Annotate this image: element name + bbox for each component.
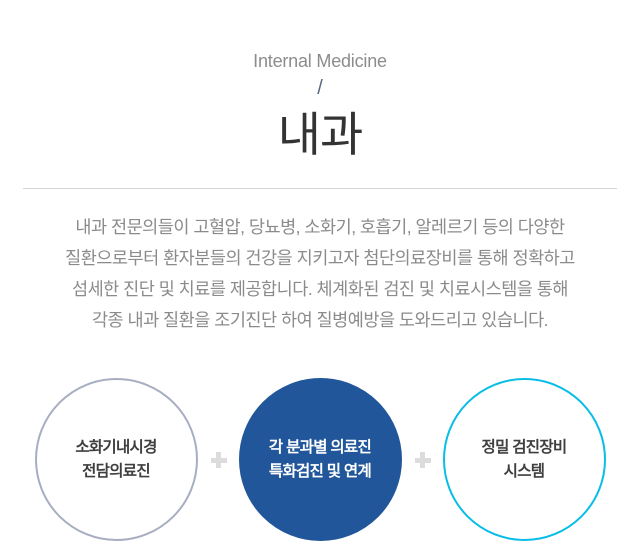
description-line: 질환으로부터 환자분들의 건강을 지키고자 첨단의료장비를 통해 정확하고 xyxy=(0,243,640,274)
feature-circle-equipment-system: 정밀 검진장비 시스템 xyxy=(443,378,606,541)
department-description: 내과 전문의들이 고혈압, 당뇨병, 소화기, 호흡기, 알레르기 등의 다양한… xyxy=(0,212,640,336)
plus-icon xyxy=(402,449,443,471)
feature-circle-line: 소화기내시경 xyxy=(75,436,156,460)
page-title: 내과 xyxy=(0,104,640,166)
feature-circle-specialist-screening: 각 분과별 의료진 특화검진 및 연계 xyxy=(239,378,402,541)
page-header: Internal Medicine / 내과 xyxy=(0,0,640,197)
feature-circle-endoscopy: 소화기내시경 전담의료진 xyxy=(35,378,198,541)
feature-circle-line: 전담의료진 xyxy=(75,460,156,484)
feature-circle-line: 정밀 검진장비 xyxy=(482,436,567,460)
description-line: 내과 전문의들이 고혈압, 당뇨병, 소화기, 호흡기, 알레르기 등의 다양한 xyxy=(0,212,640,243)
title-separator: / xyxy=(0,76,640,100)
page-subtitle-english: Internal Medicine xyxy=(0,50,640,72)
feature-circles-group: 소화기내시경 전담의료진 각 분과별 의료진 특화검진 및 연계 정밀 검진장비… xyxy=(0,370,640,549)
description-line: 각종 내과 질환을 조기진단 하여 질병예방을 도와드리고 있습니다. xyxy=(0,305,640,336)
description-line: 섬세한 진단 및 치료를 제공합니다. 체계화된 검진 및 치료시스템을 통해 xyxy=(0,274,640,305)
feature-circle-label: 소화기내시경 전담의료진 xyxy=(75,436,156,484)
feature-circle-label: 정밀 검진장비 시스템 xyxy=(482,436,567,484)
feature-circle-line: 시스템 xyxy=(482,460,567,484)
feature-circle-line: 특화검진 및 연계 xyxy=(269,460,371,484)
feature-circle-label: 각 분과별 의료진 특화검진 및 연계 xyxy=(269,436,371,484)
feature-circle-line: 각 분과별 의료진 xyxy=(269,436,371,460)
plus-icon xyxy=(198,449,239,471)
header-divider xyxy=(23,188,617,189)
internal-medicine-page: Internal Medicine / 내과 내과 전문의들이 고혈압, 당뇨병… xyxy=(0,0,640,549)
